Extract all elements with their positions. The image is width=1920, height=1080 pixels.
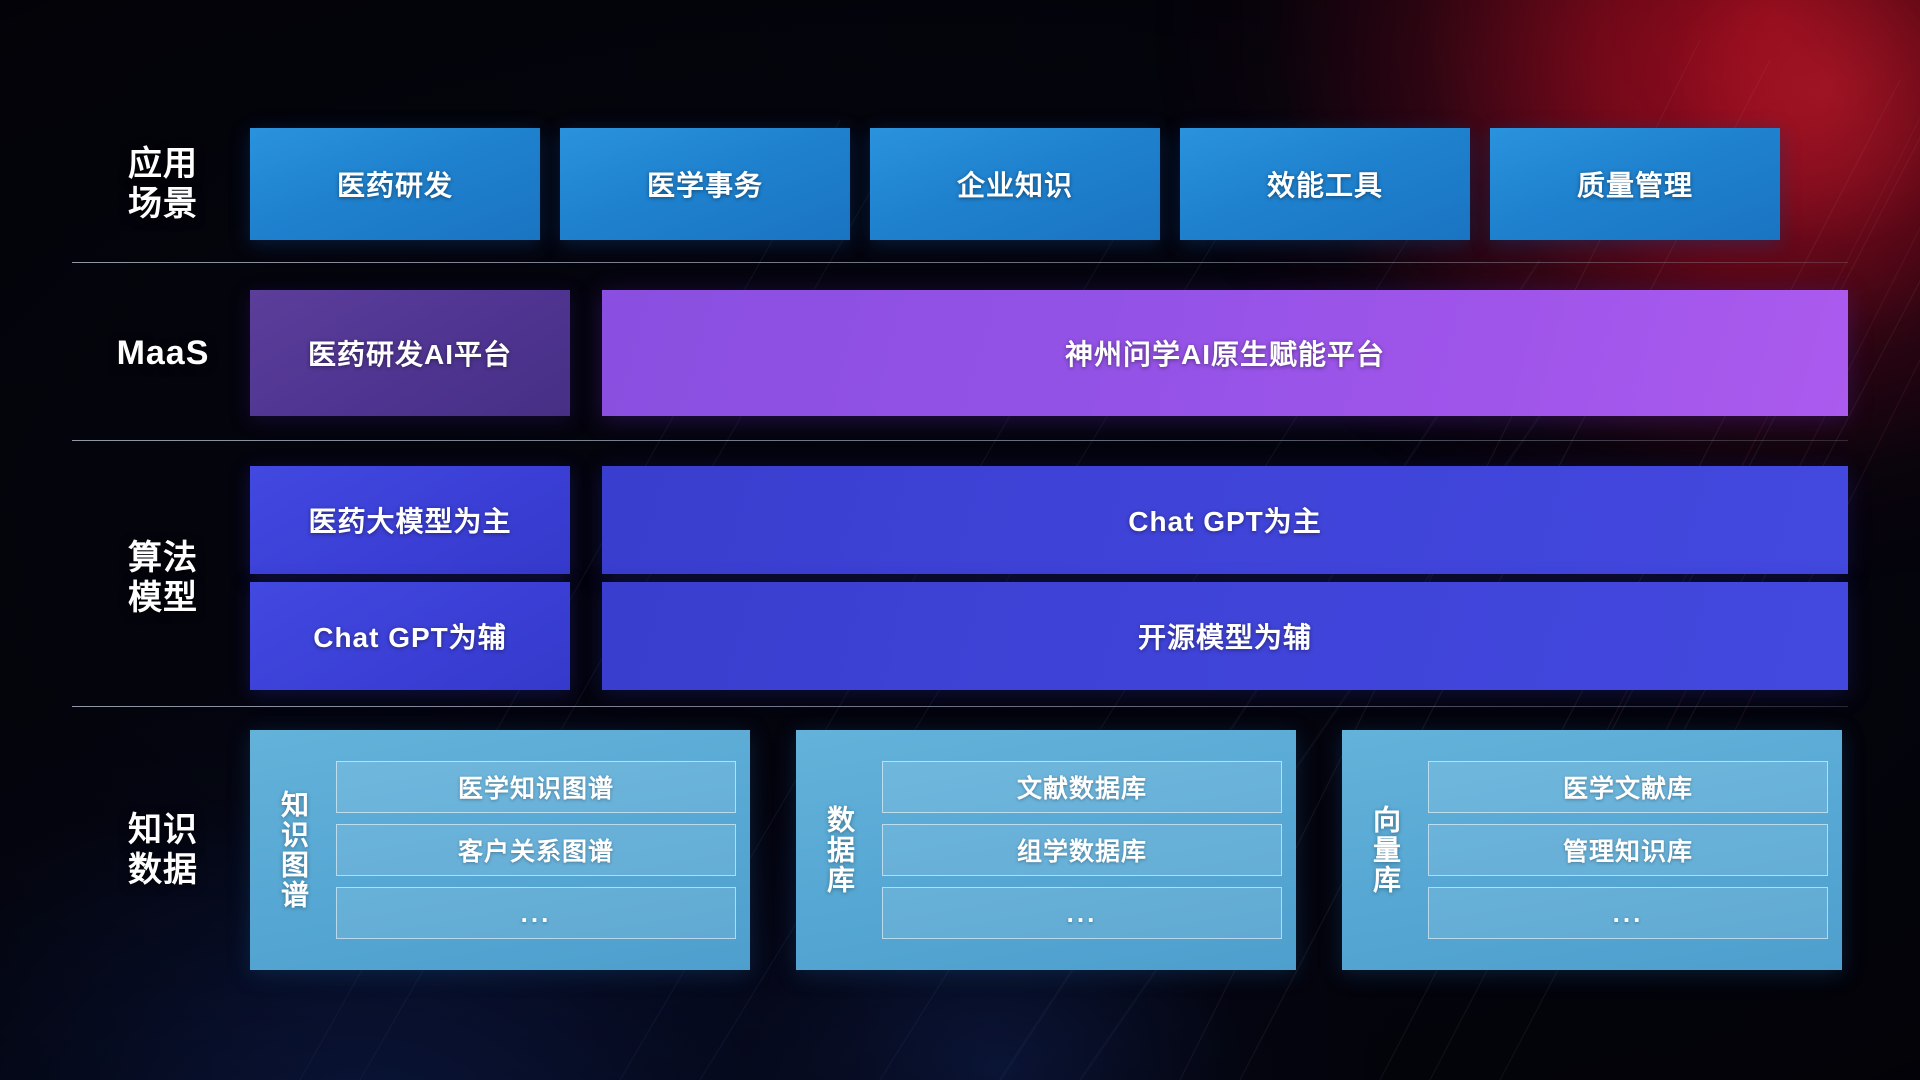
knowledge-item-more-ellipsis[interactable]: ...	[1428, 887, 1828, 939]
row-label-maas-text: MaaS	[117, 333, 210, 373]
architecture-diagram: 应用 场景 医药研发 医学事务 企业知识 效能工具 质量管理 MaaS 医药研发…	[0, 0, 1920, 1080]
row-label-maas: MaaS	[88, 290, 238, 416]
row-label-line-2: 数据	[128, 850, 198, 890]
algorithm-models-row-secondary: Chat GPT为辅 开源模型为辅	[250, 582, 1848, 690]
app-box-enterprise-knowledge[interactable]: 企业知识	[870, 128, 1160, 240]
knowledge-item-omics-database[interactable]: 组学数据库	[882, 824, 1282, 876]
knowledge-group-title-database: 数据库	[806, 742, 872, 958]
knowledge-item-customer-relation-graph[interactable]: 客户关系图谱	[336, 824, 736, 876]
model-box-chatgpt-secondary[interactable]: Chat GPT为辅	[250, 582, 570, 690]
maas-box-pharma-ai-platform[interactable]: 医药研发AI平台	[250, 290, 570, 416]
knowledge-item-more-ellipsis[interactable]: ...	[882, 887, 1282, 939]
row-label-line-1: 算法	[128, 538, 198, 578]
knowledge-group-title-knowledge-graph: 知识图谱	[260, 742, 326, 958]
divider-after-application-scenarios	[72, 262, 1848, 263]
knowledge-group-vector-store[interactable]: 向量库 医学文献库 管理知识库 ...	[1342, 730, 1842, 970]
knowledge-item-more-ellipsis[interactable]: ...	[336, 887, 736, 939]
knowledge-item-literature-database[interactable]: 文献数据库	[882, 761, 1282, 813]
knowledge-items-database: 文献数据库 组学数据库 ...	[872, 742, 1282, 958]
row-label-line-1: 知识	[128, 810, 198, 850]
divider-after-maas	[72, 440, 1848, 441]
knowledge-items-vector-store: 医学文献库 管理知识库 ...	[1418, 742, 1828, 958]
knowledge-group-title-vector-store: 向量库	[1352, 742, 1418, 958]
row-label-knowledge-data: 知识 数据	[88, 730, 238, 970]
model-box-chatgpt-primary[interactable]: Chat GPT为主	[602, 466, 1848, 574]
knowledge-group-title-text: 知识图谱	[277, 790, 309, 910]
maas-box-shenzhou-wenxue-platform[interactable]: 神州问学AI原生赋能平台	[602, 290, 1848, 416]
row-label-line-2: 场景	[128, 184, 198, 224]
maas-row: 医药研发AI平台 神州问学AI原生赋能平台	[250, 290, 1848, 416]
row-label-line-2: 模型	[128, 578, 198, 618]
knowledge-group-title-text: 数据库	[823, 805, 855, 895]
row-label-application-scenarios: 应用 场景	[88, 128, 238, 240]
algorithm-models-row-primary: 医药大模型为主 Chat GPT为主	[250, 466, 1848, 574]
app-box-efficiency-tools[interactable]: 效能工具	[1180, 128, 1470, 240]
knowledge-group-database[interactable]: 数据库 文献数据库 组学数据库 ...	[796, 730, 1296, 970]
application-scenarios-row: 医药研发 医学事务 企业知识 效能工具 质量管理	[250, 128, 1848, 240]
app-box-medicine-rd[interactable]: 医药研发	[250, 128, 540, 240]
row-label-algorithm-models: 算法 模型	[88, 466, 238, 690]
knowledge-group-knowledge-graph[interactable]: 知识图谱 医学知识图谱 客户关系图谱 ...	[250, 730, 750, 970]
knowledge-group-title-text: 向量库	[1369, 805, 1401, 895]
row-label-line-1: 应用	[128, 144, 198, 184]
divider-after-algorithm-models	[72, 706, 1848, 707]
knowledge-item-medical-knowledge-graph[interactable]: 医学知识图谱	[336, 761, 736, 813]
model-box-opensource-secondary[interactable]: 开源模型为辅	[602, 582, 1848, 690]
app-box-quality-management[interactable]: 质量管理	[1490, 128, 1780, 240]
knowledge-item-medical-literature-store[interactable]: 医学文献库	[1428, 761, 1828, 813]
knowledge-items-knowledge-graph: 医学知识图谱 客户关系图谱 ...	[326, 742, 736, 958]
app-box-medical-affairs[interactable]: 医学事务	[560, 128, 850, 240]
knowledge-data-row: 知识图谱 医学知识图谱 客户关系图谱 ... 数据库 文献数据库 组学数据库 .…	[250, 730, 1848, 970]
model-box-pharma-llm-primary[interactable]: 医药大模型为主	[250, 466, 570, 574]
knowledge-item-management-knowledge-store[interactable]: 管理知识库	[1428, 824, 1828, 876]
